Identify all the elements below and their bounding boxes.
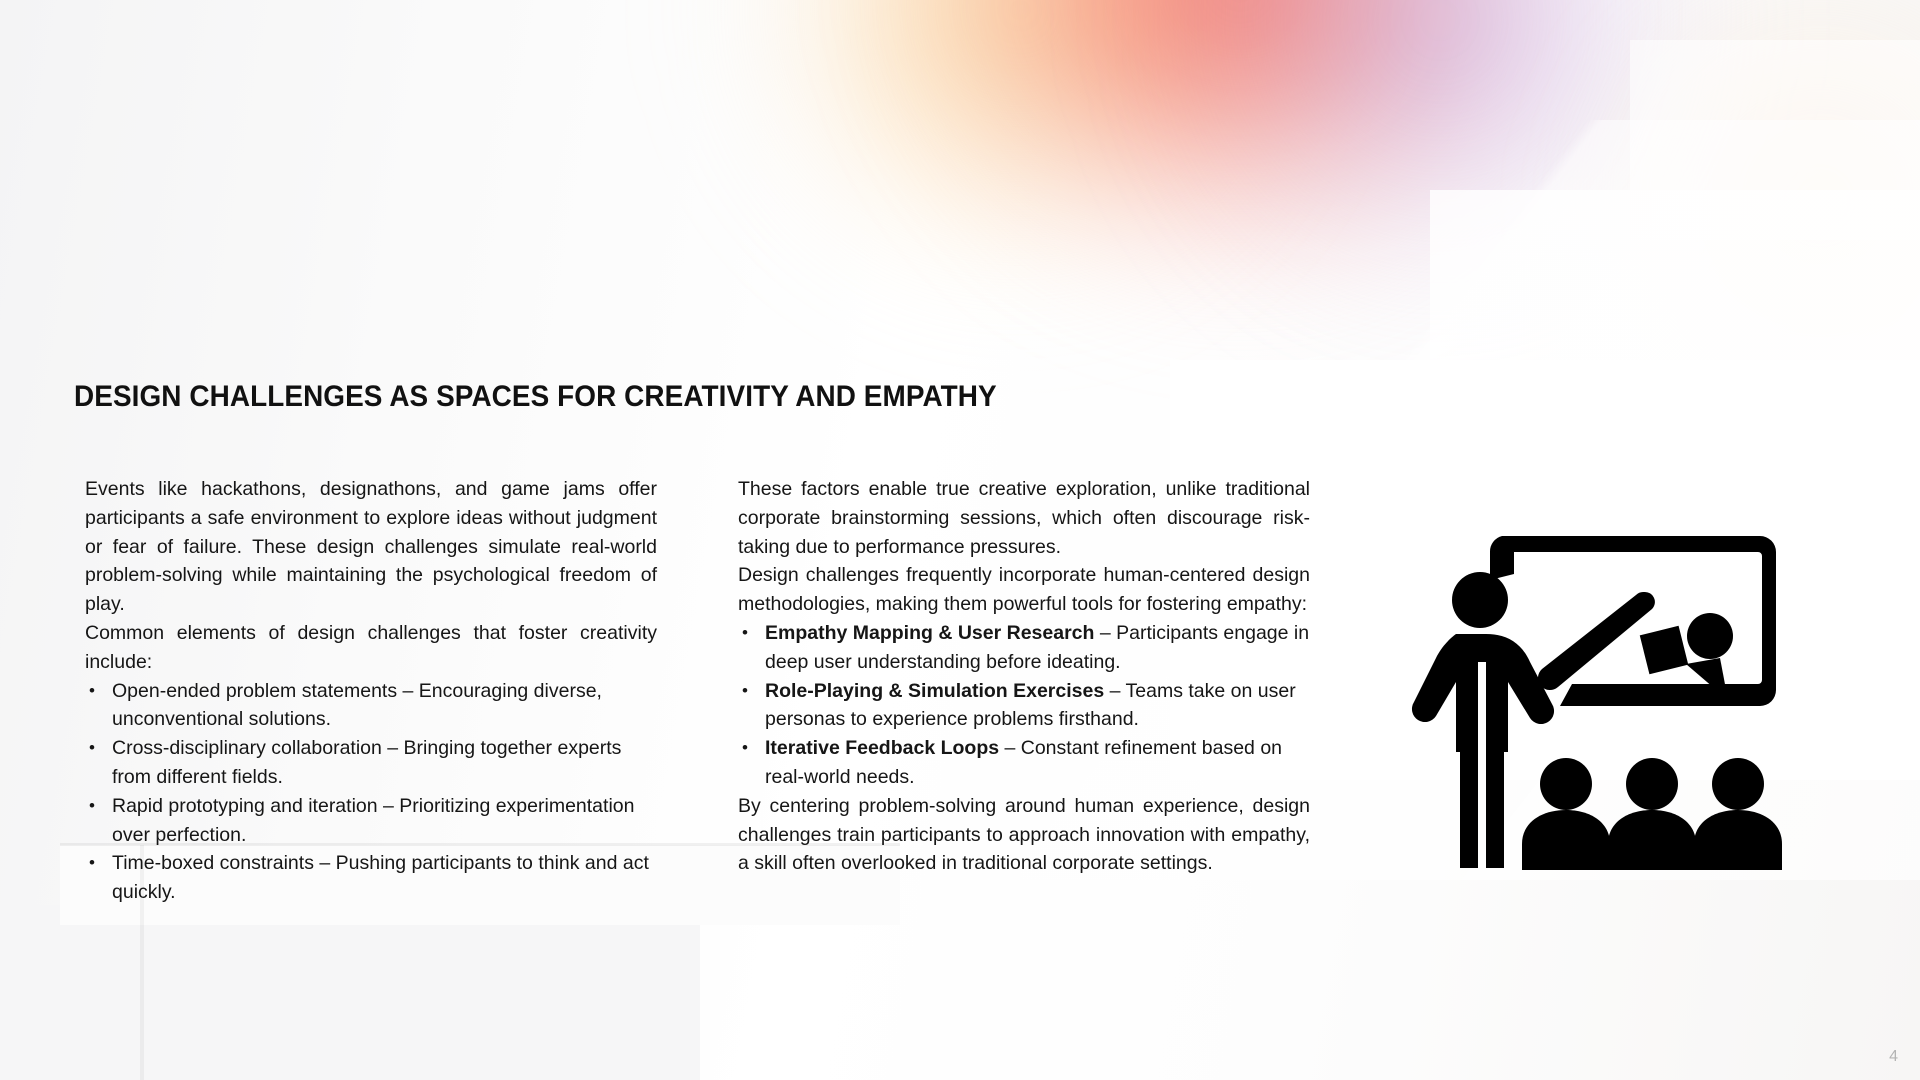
left-bullet-list: Open-ended problem statements – Encourag… xyxy=(85,677,657,907)
list-item: Open-ended problem statements – Encourag… xyxy=(85,677,657,735)
right-text-column: These factors enable true creative explo… xyxy=(738,475,1310,878)
list-item-lead: Role-Playing & Simulation Exercises xyxy=(765,680,1104,702)
left-paragraph-1: Events like hackathons, designathons, an… xyxy=(85,475,657,619)
slide-canvas: DESIGN CHALLENGES AS SPACES FOR CREATIVI… xyxy=(0,0,1920,1080)
list-item: Role-Playing & Simulation Exercises – Te… xyxy=(738,677,1310,735)
left-paragraph-2: Common elements of design challenges tha… xyxy=(85,619,657,677)
right-paragraph-3: By centering problem-solving around huma… xyxy=(738,792,1310,878)
list-item-lead: Iterative Feedback Loops xyxy=(765,737,999,759)
slide-page-number: 4 xyxy=(1889,1048,1898,1066)
list-item: Rapid prototyping and iteration – Priori… xyxy=(85,792,657,850)
list-item: Cross-disciplinary collaboration – Bring… xyxy=(85,734,657,792)
page-title: DESIGN CHALLENGES AS SPACES FOR CREATIVI… xyxy=(74,380,997,414)
list-item: Time-boxed constraints – Pushing partici… xyxy=(85,849,657,907)
presenter-whiteboard-audience-icon xyxy=(1398,512,1790,870)
list-item-lead: Empathy Mapping & User Research xyxy=(765,622,1094,644)
list-item: Iterative Feedback Loops – Constant refi… xyxy=(738,734,1310,792)
right-paragraph-1: These factors enable true creative explo… xyxy=(738,475,1310,561)
right-bullet-list: Empathy Mapping & User Research – Partic… xyxy=(738,619,1310,792)
right-paragraph-2: Design challenges frequently incorporate… xyxy=(738,561,1310,619)
background-panel-bottom-left-1 xyxy=(0,905,700,1080)
list-item: Empathy Mapping & User Research – Partic… xyxy=(738,619,1310,677)
left-text-column: Events like hackathons, designathons, an… xyxy=(85,475,657,907)
